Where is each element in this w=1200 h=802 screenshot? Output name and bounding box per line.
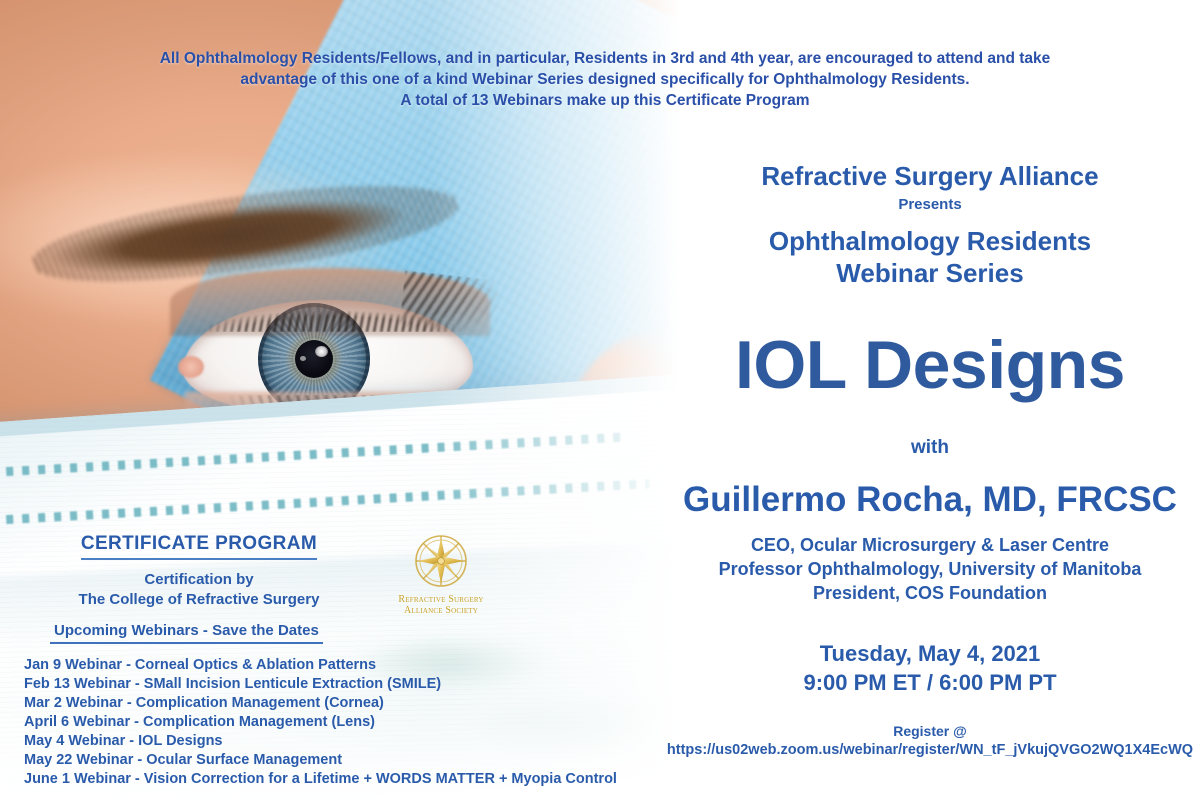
list-item: April 6 Webinar - Complication Managemen… xyxy=(24,713,664,732)
series-title-line-1: Ophthalmology Residents xyxy=(660,225,1200,257)
main-panel: Refractive Surgery Alliance Presents Oph… xyxy=(660,0,1200,802)
credential-line-3: President, COS Foundation xyxy=(660,581,1200,605)
certification-by-label: Certification by xyxy=(24,570,374,590)
register-label: Register @ xyxy=(660,723,1200,739)
logo-wordmark: Refractive Surgery Alliance Society xyxy=(386,594,496,616)
webinar-list: Jan 9 Webinar - Corneal Optics & Ablatio… xyxy=(24,656,664,789)
presents-label: Presents xyxy=(660,196,1200,213)
certificate-subtitle: Certification by The College of Refracti… xyxy=(24,570,374,610)
certificate-program-title: CERTIFICATE PROGRAM xyxy=(81,533,317,560)
logo-wordmark-line-1: Refractive Surgery xyxy=(386,594,496,605)
event-datetime: Tuesday, May 4, 2021 9:00 PM ET / 6:00 P… xyxy=(660,639,1200,697)
credential-line-2: Professor Ophthalmology, University of M… xyxy=(660,557,1200,581)
organization-name: Refractive Surgery Alliance xyxy=(660,160,1200,192)
list-item: Feb 13 Webinar - SMall Incision Lenticul… xyxy=(24,675,664,694)
certificate-program-block: CERTIFICATE PROGRAM Certification by The… xyxy=(24,533,374,610)
corneal-glint-secondary xyxy=(300,356,306,361)
list-item: June 1 Webinar - Vision Correction for a… xyxy=(24,770,664,789)
event-date: Tuesday, May 4, 2021 xyxy=(660,639,1200,668)
list-item: May 4 Webinar - IOL Designs xyxy=(24,732,664,751)
speaker-name: Guillermo Rocha, MD, FRCSC xyxy=(660,479,1200,521)
caruncle xyxy=(178,356,204,378)
series-title: Ophthalmology Residents Webinar Series xyxy=(660,225,1200,289)
credential-line-1: CEO, Ocular Microsurgery & Laser Centre xyxy=(660,533,1200,557)
rsa-society-logo: Refractive Surgery Alliance Society xyxy=(386,530,496,616)
list-item: Mar 2 Webinar - Complication Management … xyxy=(24,694,664,713)
corneal-glint xyxy=(315,346,328,357)
upcoming-webinars-title: Upcoming Webinars - Save the Dates xyxy=(50,622,323,644)
with-label: with xyxy=(660,437,1200,459)
speaker-credentials: CEO, Ocular Microsurgery & Laser Centre … xyxy=(660,533,1200,605)
certifying-body: The College of Refractive Surgery xyxy=(24,590,374,610)
event-time: 9:00 PM ET / 6:00 PM PT xyxy=(660,668,1200,697)
list-item: May 22 Webinar - Ocular Surface Manageme… xyxy=(24,751,664,770)
webinar-flyer: All Ophthalmology Residents/Fellows, and… xyxy=(0,0,1200,802)
page-title: IOL Designs xyxy=(660,327,1200,403)
logo-wordmark-line-2: Alliance Society xyxy=(386,605,496,616)
compass-star-icon xyxy=(386,530,496,592)
series-title-line-2: Webinar Series xyxy=(660,257,1200,289)
list-item: Jan 9 Webinar - Corneal Optics & Ablatio… xyxy=(24,656,664,675)
upcoming-webinars-block: Upcoming Webinars - Save the Dates Jan 9… xyxy=(24,622,664,789)
registration-url[interactable]: https://us02web.zoom.us/webinar/register… xyxy=(660,742,1200,758)
